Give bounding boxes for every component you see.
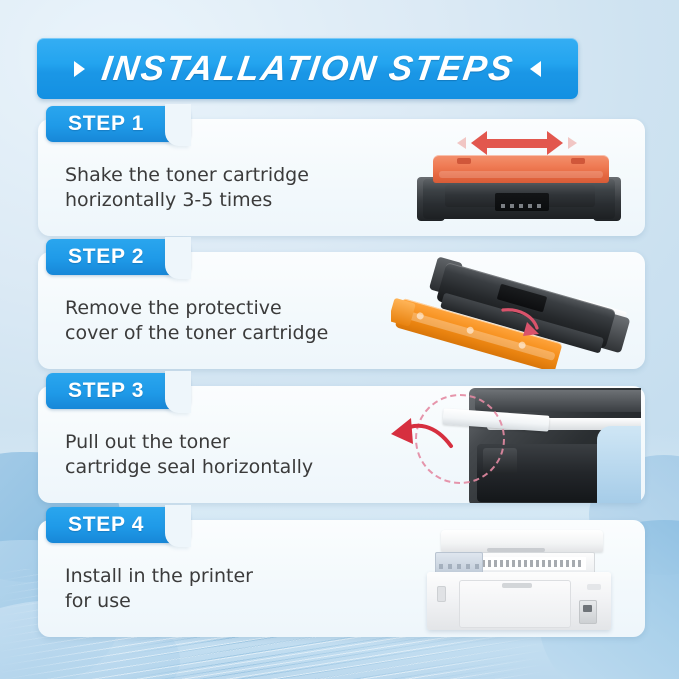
step-tab-label-4: STEP 4 <box>68 513 144 537</box>
blue-corner-decoration <box>597 426 641 503</box>
step-illustration-4 <box>391 520 641 637</box>
step-tab-label-1: STEP 1 <box>68 112 144 136</box>
step-illustration-2 <box>391 252 641 369</box>
step-tab-4: STEP 4 <box>46 507 190 543</box>
laser-printer-graphic <box>423 528 619 632</box>
step-tab-2: STEP 2 <box>46 239 190 275</box>
step-description-2: Remove the protective cover of the toner… <box>65 296 328 347</box>
step-tab-label-2: STEP 2 <box>68 245 144 269</box>
toner-cartridge-graphic <box>419 155 619 225</box>
step-tab-label-3: STEP 3 <box>68 379 144 403</box>
step-card-4: STEP 4 Install in the printer for use <box>38 520 645 637</box>
printer-control-panel <box>435 552 483 574</box>
triangle-right-icon <box>74 61 85 77</box>
remove-cover-arrow-icon <box>497 306 543 340</box>
step-tab-1: STEP 1 <box>46 106 190 142</box>
printer-power-switch <box>579 600 597 624</box>
triangle-left-icon <box>530 61 541 77</box>
step-description-3: Pull out the toner cartridge seal horizo… <box>65 430 313 481</box>
step-description-4: Install in the printer for use <box>65 564 253 615</box>
step-card-2: STEP 2 Remove the protective cover of th… <box>38 252 645 369</box>
shake-arrow-icon <box>471 131 563 155</box>
pull-seal-arrow-icon <box>391 416 455 460</box>
page-title: INSTALLATION STEPS <box>99 49 517 89</box>
step-tab-3: STEP 3 <box>46 373 190 409</box>
installation-steps-infographic: INSTALLATION STEPS STEP 1 Shake the tone… <box>0 0 679 679</box>
step-description-1: Shake the toner cartridge horizontally 3… <box>65 163 309 214</box>
step-card-1: STEP 1 Shake the toner cartridge horizon… <box>38 119 645 236</box>
step-card-3: STEP 3 Pull out the toner cartridge seal… <box>38 386 645 503</box>
step-illustration-1 <box>391 119 641 236</box>
header-banner: INSTALLATION STEPS <box>37 38 578 99</box>
step-illustration-3 <box>391 386 641 503</box>
